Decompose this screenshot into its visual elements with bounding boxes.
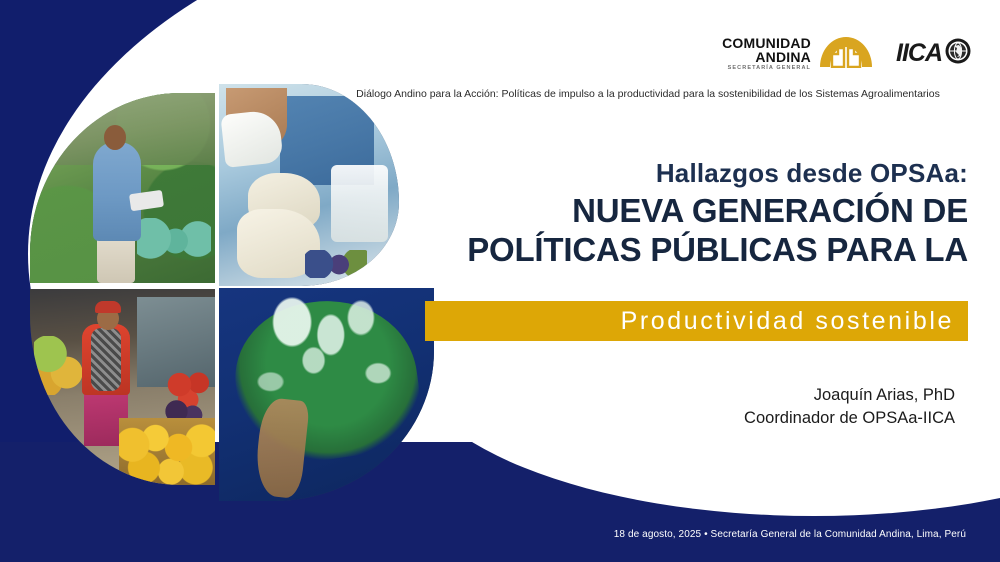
comunidad-andina-logo: COMUNIDAD ANDINA SECRETARÍA GENERAL — [722, 34, 874, 73]
title-kicker: Hallazgos desde OPSAa: — [348, 158, 968, 189]
iica-logo: IICA — [896, 37, 972, 70]
presenter-name: Joaquín Arias, PhD — [435, 384, 955, 407]
highlight-banner-text: Productividad sostenible — [621, 307, 968, 336]
farmer-photo-workers — [137, 218, 211, 267]
title-main: NUEVA GENERACIÓN DE POLÍTICAS PÚBLICAS P… — [348, 192, 968, 270]
farmer-photo-shirt — [93, 142, 141, 241]
presenter-role: Coordinador de OPSAa-IICA — [435, 407, 955, 430]
market-photo-sweater — [91, 328, 121, 391]
can-logo-line-3: SECRETARÍA GENERAL — [722, 66, 811, 72]
market-vendor-photo — [30, 289, 215, 485]
title-line-1: NUEVA GENERACIÓN DE — [348, 192, 968, 231]
title-line-2: POLÍTICAS PÚBLICAS PARA LA — [348, 231, 968, 270]
can-logo-line-2: ANDINA — [722, 50, 811, 64]
highlight-banner: Productividad sostenible — [425, 301, 968, 341]
market-photo-hat — [95, 301, 121, 313]
presenter-credits: Joaquín Arias, PhD Coordinador de OPSAa-… — [435, 384, 955, 430]
presentation-slide: COMUNIDAD ANDINA SECRETARÍA GENERAL IICA — [0, 0, 1000, 562]
farmer-with-phone-photo — [30, 93, 215, 283]
event-subtitle: Diálogo Andino para la Acción: Políticas… — [336, 88, 960, 100]
title-block: Hallazgos desde OPSAa: NUEVA GENERACIÓN … — [348, 158, 968, 270]
logo-row: COMUNIDAD ANDINA SECRETARÍA GENERAL IICA — [722, 34, 972, 73]
satellite-photo-clouds — [219, 288, 434, 501]
iica-wordmark: IICA — [896, 39, 942, 68]
comunidad-andina-wordmark: COMUNIDAD ANDINA SECRETARÍA GENERAL — [722, 36, 811, 72]
market-photo-vegetables — [34, 336, 82, 395]
globe-icon — [944, 37, 972, 70]
andean-arch-icon — [818, 34, 874, 73]
farmer-photo-head — [104, 125, 126, 150]
satellite-south-america-photo — [219, 288, 434, 501]
can-logo-line-1: COMUNIDAD — [722, 36, 811, 50]
market-photo-fruit-display — [119, 418, 215, 485]
slide-footer: 18 de agosto, 2025 • Secretaría General … — [614, 529, 966, 540]
